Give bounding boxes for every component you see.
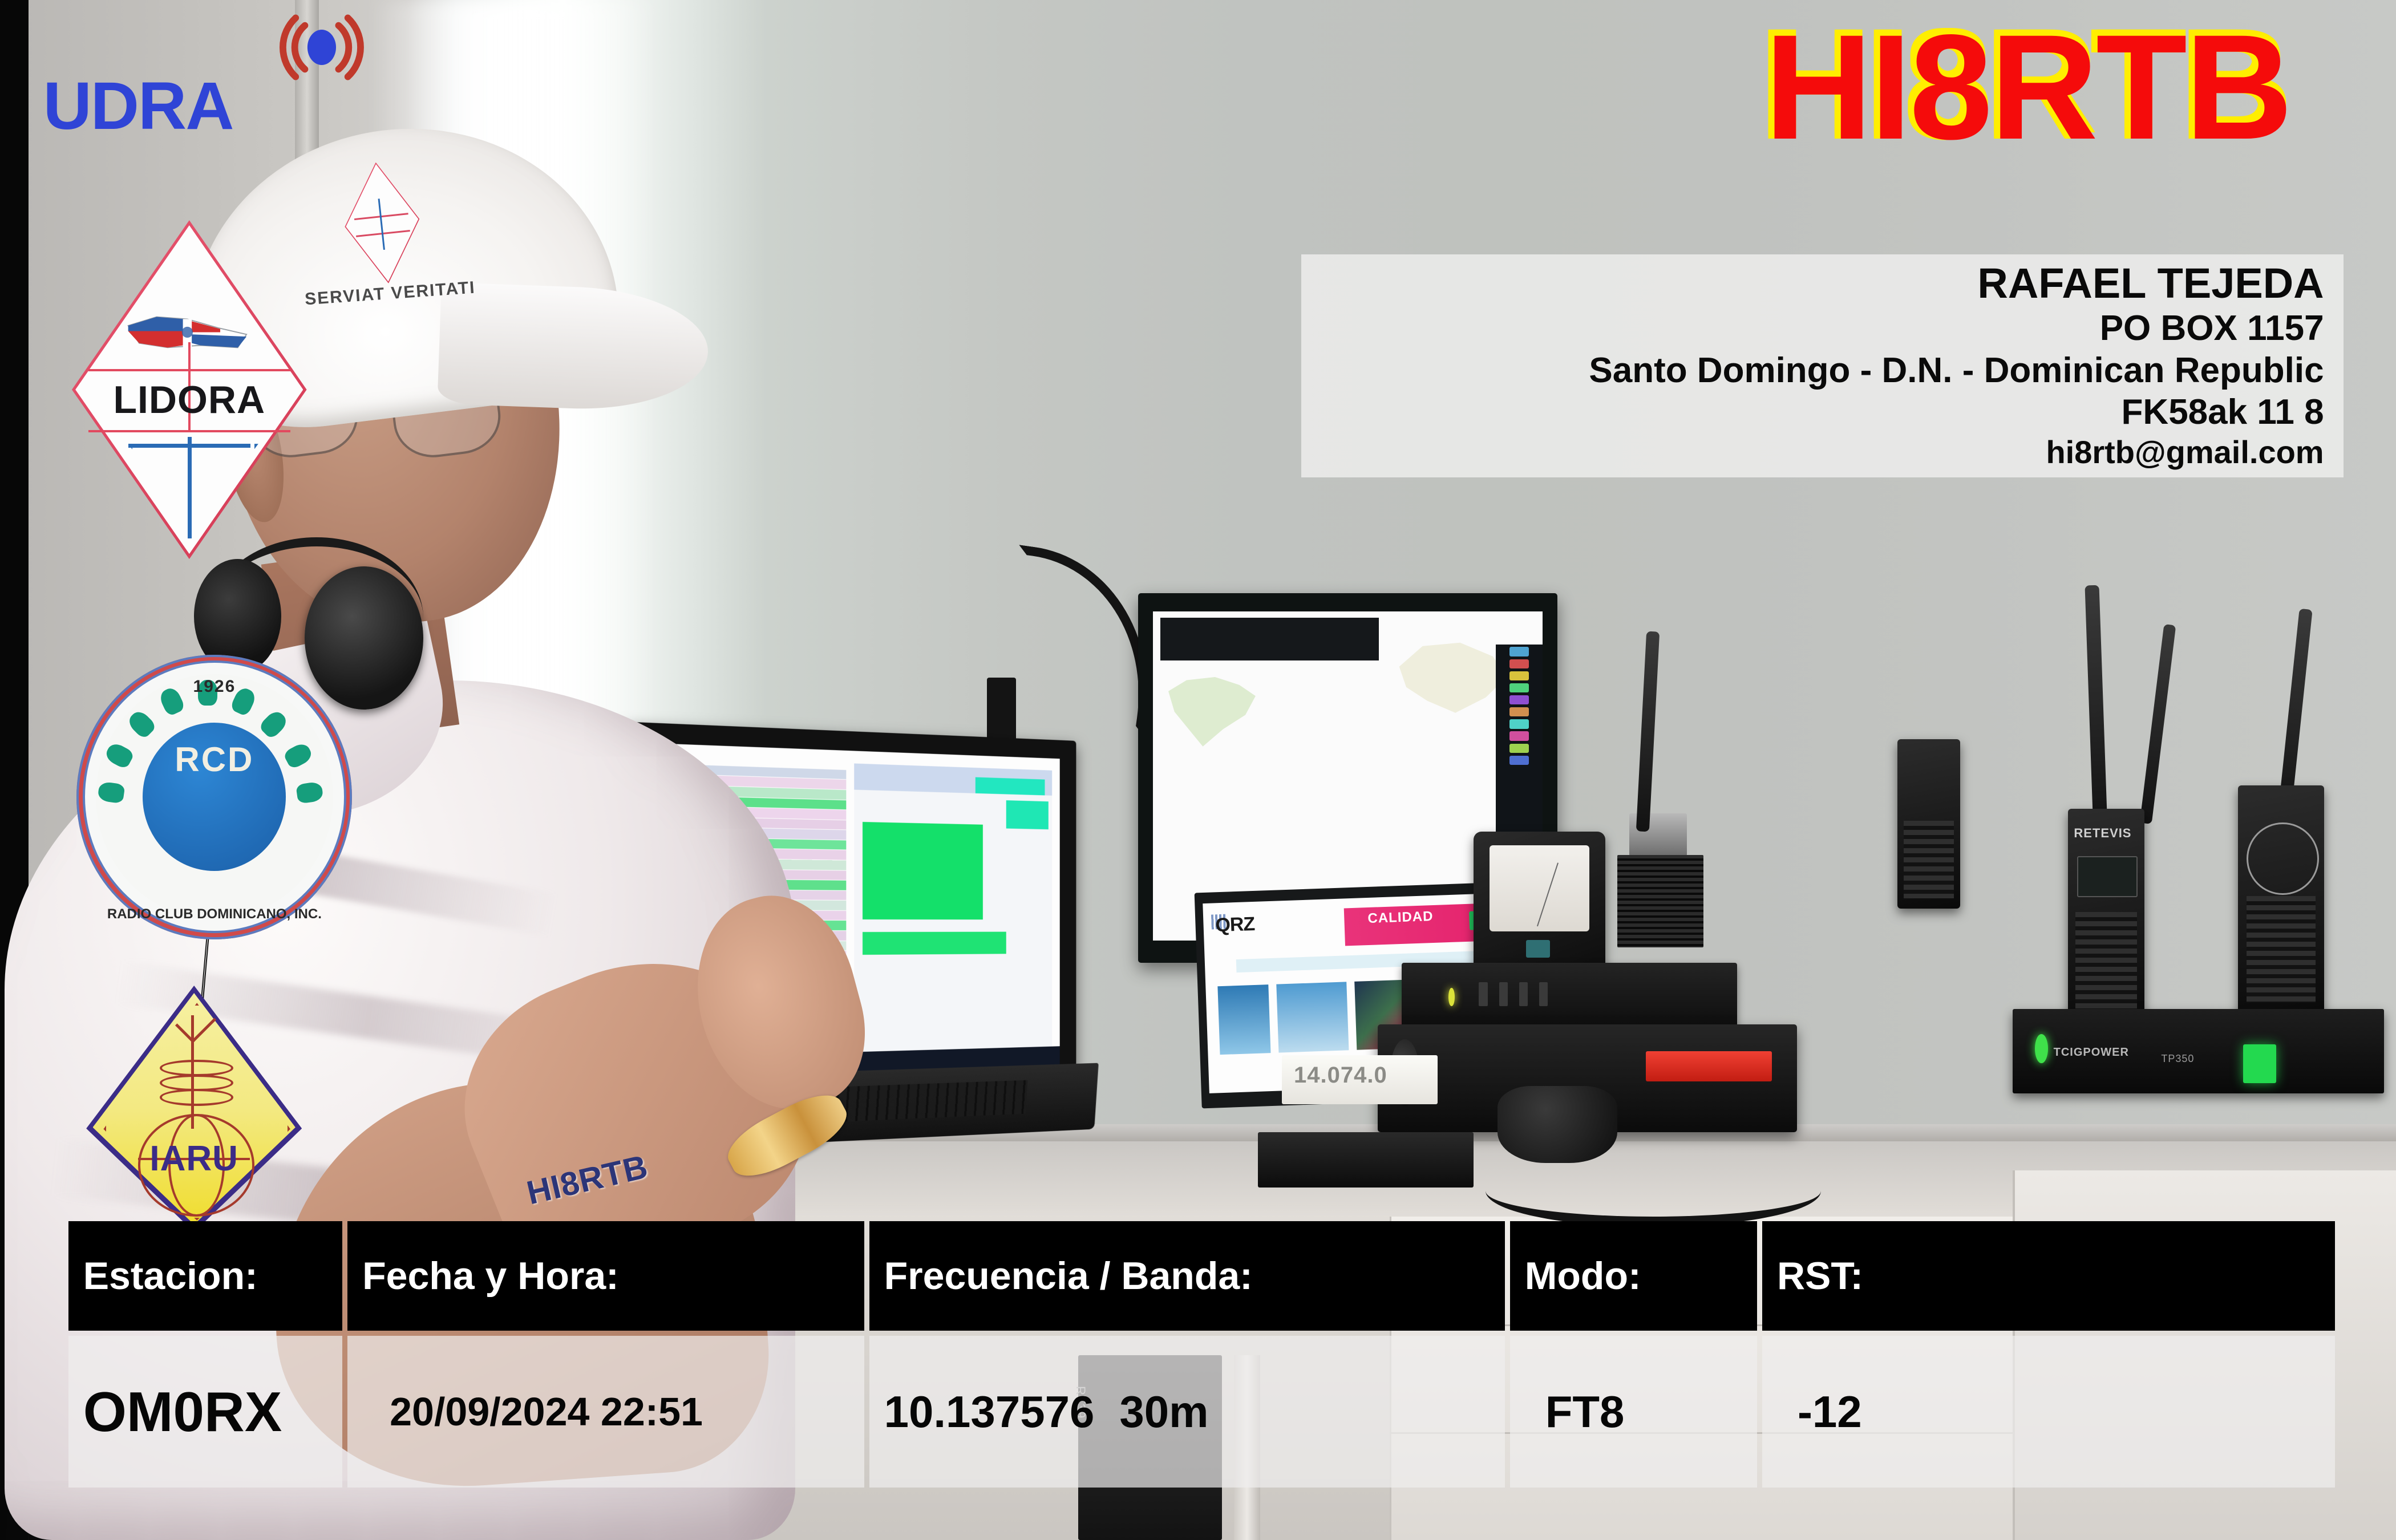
handheld-display bbox=[2077, 856, 2138, 897]
microphone-cord bbox=[1486, 1155, 1821, 1227]
lidora-antenna-stem bbox=[188, 437, 192, 538]
value-datetime: 20/09/2024 22:51 bbox=[362, 1389, 703, 1434]
value-frequency: 10.137576 bbox=[884, 1387, 1095, 1437]
qrz-logo-text: QRZ bbox=[1215, 913, 1255, 936]
swr-meter-button bbox=[1526, 940, 1550, 958]
address-po-box: PO BOX 1157 bbox=[1309, 307, 2324, 349]
value-station: OM0RX bbox=[83, 1380, 282, 1444]
address-email: hi8rtb@gmail.com bbox=[1309, 433, 2324, 471]
transceiver-red-panel bbox=[1646, 1051, 1772, 1081]
power-supply: TCIGPOWER TP350 bbox=[2013, 1009, 2384, 1094]
microphone bbox=[1497, 1086, 1617, 1163]
header-fecha-hora: Fecha y Hora: bbox=[347, 1221, 864, 1331]
power-supply-led bbox=[2035, 1034, 2048, 1063]
map-north-america bbox=[1168, 674, 1270, 752]
handheld-radio bbox=[1897, 739, 1960, 909]
udra-logo: UDRA bbox=[43, 11, 379, 157]
address-grid-square: FK58ak 11 8 bbox=[1309, 391, 2324, 433]
rcd-founding-year: 1926 bbox=[76, 677, 352, 696]
lidora-rule bbox=[88, 430, 290, 432]
cw-keyer bbox=[1258, 1132, 1474, 1188]
radio-club-dominicano-logo: 1926 RCD RADIO CLUB DOMINICANO, INC. bbox=[76, 655, 352, 940]
transceiver-frequency: 14.074.0 bbox=[1294, 1063, 1387, 1088]
header-modo: Modo: bbox=[1510, 1221, 1757, 1331]
qso-details-table: Estacion: Fecha y Hora: Frecuencia / Ban… bbox=[68, 1221, 2335, 1488]
tuner-led bbox=[1448, 988, 1455, 1006]
status-field bbox=[975, 777, 1045, 795]
power-supply-brand: TCIGPOWER bbox=[2054, 1046, 2129, 1059]
rcd-full-name: RADIO CLUB DOMINICANO, INC. bbox=[76, 906, 352, 922]
amplifier-heatsink bbox=[1617, 855, 1703, 947]
swr-meter bbox=[1474, 832, 1605, 970]
iaru-wordmark: IARU bbox=[86, 1138, 302, 1179]
handheld-keypad bbox=[2075, 912, 2137, 1011]
value-band: 30m bbox=[1119, 1387, 1208, 1437]
antenna-tuner bbox=[1402, 963, 1737, 1034]
lidora-wordmark: LIDORA bbox=[72, 378, 307, 422]
header-frecuencia-banda: Frecuencia / Banda: bbox=[869, 1221, 1505, 1331]
cap-brim bbox=[437, 282, 710, 414]
radio-wave-icon bbox=[265, 14, 379, 81]
map-eurasia bbox=[1395, 641, 1512, 727]
address-panel: RAFAEL TEJEDA PO BOX 1157 Santo Domingo … bbox=[1301, 254, 2344, 478]
address-city-country: Santo Domingo - D.N. - Dominican Republi… bbox=[1309, 350, 2324, 391]
value-rst: -12 bbox=[1777, 1386, 1862, 1438]
power-supply-model: TP350 bbox=[2161, 1053, 2194, 1065]
cap-lidora-logo-icon bbox=[338, 159, 426, 287]
qrz-thumbnail bbox=[1276, 982, 1349, 1052]
lidora-rule bbox=[88, 369, 290, 371]
handheld-bezel-ring bbox=[2247, 822, 2319, 895]
callsign-title: HI8RTB bbox=[1764, 13, 2290, 162]
handheld-brand-label: RETEVIS bbox=[2074, 826, 2131, 841]
value-mode: FT8 bbox=[1525, 1386, 1625, 1438]
qrz-thumbnail bbox=[1217, 984, 1270, 1055]
header-estacion: Estacion: bbox=[68, 1221, 342, 1331]
qso-header-row: Estacion: Fecha y Hora: Frecuencia / Ban… bbox=[68, 1221, 2335, 1331]
status-field bbox=[1006, 800, 1049, 829]
decode-highlight bbox=[863, 931, 1006, 954]
header-rst: RST: bbox=[1762, 1221, 2335, 1331]
qsl-card: RT39 bbox=[0, 0, 2396, 1540]
handheld-radio-retevis: RETEVIS bbox=[2068, 809, 2144, 1024]
qrz-ad-headline: CALIDAD bbox=[1367, 909, 1434, 927]
iaru-logo: IARU bbox=[86, 986, 302, 1232]
udra-wordmark: UDRA bbox=[43, 72, 233, 140]
lidora-logo: LIDORA bbox=[72, 220, 307, 559]
decode-highlight bbox=[863, 822, 983, 919]
map-toolbar bbox=[1160, 618, 1379, 660]
rcd-abbreviation: RCD bbox=[76, 740, 352, 779]
operator-name: RAFAEL TEJEDA bbox=[1309, 260, 2324, 307]
qso-value-row: OM0RX 20/09/2024 22:51 10.13757630m FT8 … bbox=[68, 1336, 2335, 1488]
power-supply-switch bbox=[2243, 1044, 2277, 1083]
handheld-keypad bbox=[2247, 896, 2316, 1002]
handheld-radio bbox=[2238, 785, 2324, 1016]
